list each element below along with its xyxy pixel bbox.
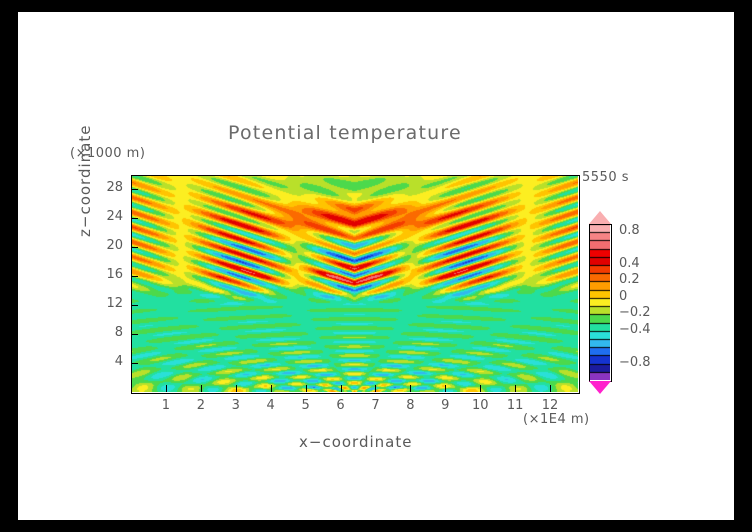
x-axis-tick (306, 385, 307, 392)
colorbar-tick-label: 0.8 (619, 223, 640, 238)
z-axis-tick (131, 189, 138, 190)
z-axis-tick (131, 305, 138, 306)
colorbar-bottom-arrow (589, 381, 611, 394)
x-axis-tick-label: 9 (431, 398, 459, 413)
z-axis-tick (131, 334, 138, 335)
x-axis-tick-label: 2 (187, 398, 215, 413)
z-axis-tick-label: 12 (97, 296, 123, 311)
x-axis-tick-label: 8 (396, 398, 424, 413)
x-axis-tick-label: 3 (222, 398, 250, 413)
x-axis-tick (341, 385, 342, 392)
contour-plot (131, 175, 578, 392)
x-axis-tick (480, 385, 481, 392)
colorbar-tick-label: −0.8 (619, 355, 651, 370)
x-axis-tick-label: 7 (361, 398, 389, 413)
x-axis-tick (166, 385, 167, 392)
colorbar-tick-label: −0.4 (619, 322, 651, 337)
x-axis-tick-label: 5 (292, 398, 320, 413)
z-axis-tick-label: 16 (97, 267, 123, 282)
z-axis-tick-label: 20 (97, 238, 123, 253)
colorbar-canvas (589, 224, 610, 380)
z-axis-tick-label: 8 (97, 325, 123, 340)
x-axis-tick (236, 385, 237, 392)
colorbar-tick-label: −0.2 (619, 305, 651, 320)
x-axis-tick (515, 385, 516, 392)
x-axis-tick-label: 10 (466, 398, 494, 413)
colorbar-tick-label: 0 (619, 289, 627, 304)
z-axis-label: z−coordinate (76, 117, 94, 237)
x-axis-tick (410, 385, 411, 392)
page-title: Potential temperature (228, 122, 462, 144)
z-axis-tick (131, 363, 138, 364)
z-axis-tick-label: 24 (97, 209, 123, 224)
x-axis-tick (550, 385, 551, 392)
x-axis-label: x−coordinate (299, 433, 412, 451)
x-axis-tick-label: 1 (152, 398, 180, 413)
x-axis-tick (375, 385, 376, 392)
contour-field-canvas (131, 175, 578, 392)
colorbar-tick-label: 0.2 (619, 272, 640, 287)
x-axis-unit-label: (×1E4 m) (523, 412, 590, 427)
z-axis-tick (131, 247, 138, 248)
z-axis-tick (131, 218, 138, 219)
x-axis-tick (271, 385, 272, 392)
x-axis-tick-label: 11 (501, 398, 529, 413)
z-axis-tick-label: 4 (97, 354, 123, 369)
time-annotation: 5550 s (582, 170, 629, 185)
figure-page: Potential temperature (×1000 m) 5550 s x… (18, 12, 734, 520)
colorbar-top-arrow (589, 211, 611, 224)
x-axis-tick-label: 4 (257, 398, 285, 413)
x-axis-tick (201, 385, 202, 392)
x-axis-tick-label: 12 (536, 398, 564, 413)
x-axis-tick-label: 6 (327, 398, 355, 413)
colorbar-tick-label: 0.4 (619, 256, 640, 271)
z-axis-tick-label: 28 (97, 180, 123, 195)
x-axis-tick (445, 385, 446, 392)
z-axis-tick (131, 276, 138, 277)
